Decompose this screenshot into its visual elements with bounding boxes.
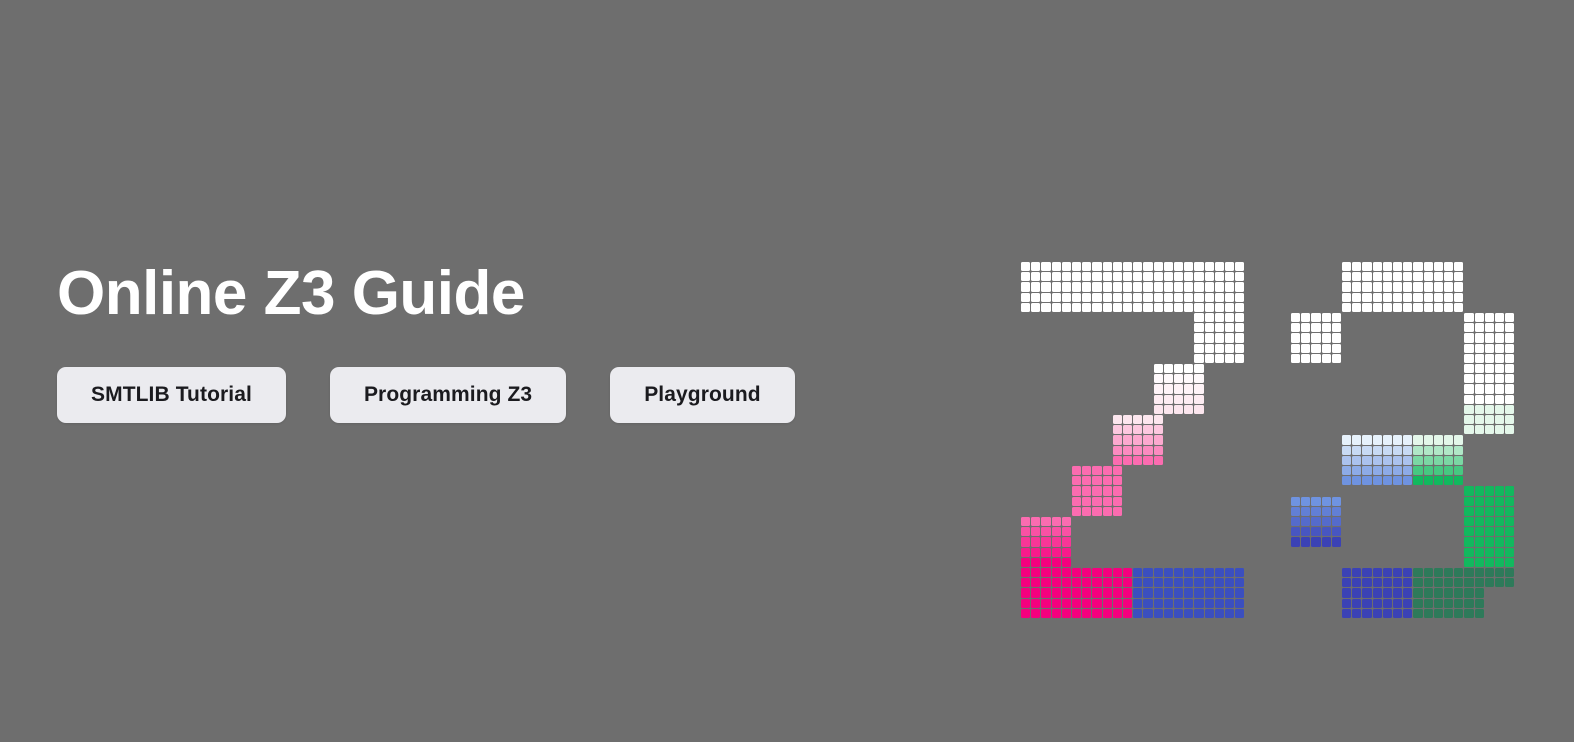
logo-pixel-cell (1444, 466, 1453, 475)
logo-pixel-cell (1154, 364, 1163, 373)
logo-pixel-cell (1475, 558, 1484, 567)
logo-pixel-cell (1123, 262, 1132, 271)
logo-pixel-cell (1505, 548, 1514, 557)
logo-pixel-cell (1373, 568, 1382, 577)
logo-pixel-cell (1362, 476, 1371, 485)
logo-pixel-cell (1403, 262, 1412, 271)
logo-pixel-cell (1301, 507, 1310, 516)
logo-pixel-cell (1174, 303, 1183, 312)
logo-pixel-cell (1342, 476, 1351, 485)
logo-pixel-cell (1072, 588, 1081, 597)
logo-pixel-cell (1103, 466, 1112, 475)
logo-pixel-cell (1062, 272, 1071, 281)
logo-pixel-cell (1301, 354, 1310, 363)
logo-pixel-cell (1444, 262, 1453, 271)
logo-pixel-cell (1505, 313, 1514, 322)
logo-pixel-cell (1475, 507, 1484, 516)
logo-pixel-cell (1332, 497, 1341, 506)
logo-pixel-cell (1464, 517, 1473, 526)
logo-pixel-cell (1225, 313, 1234, 322)
logo-pixel-cell (1495, 323, 1504, 332)
logo-pixel-cell (1031, 517, 1040, 526)
logo-pixel-cell (1464, 609, 1473, 618)
logo-pixel-cell (1485, 517, 1494, 526)
logo-pixel-cell (1174, 282, 1183, 291)
logo-pixel-cell (1184, 395, 1193, 404)
logo-pixel-cell (1352, 456, 1361, 465)
logo-pixel-cell (1403, 578, 1412, 587)
logo-pixel-cell (1424, 609, 1433, 618)
logo-pixel-cell (1434, 262, 1443, 271)
logo-pixel-cell (1311, 497, 1320, 506)
logo-pixel-cell (1485, 354, 1494, 363)
logo-pixel-cell (1123, 282, 1132, 291)
logo-pixel-cell (1235, 588, 1244, 597)
logo-pixel-cell (1424, 435, 1433, 444)
logo-pixel-cell (1052, 578, 1061, 587)
logo-pixel-cell (1052, 272, 1061, 281)
logo-pixel-cell (1485, 333, 1494, 342)
logo-pixel-cell (1133, 282, 1142, 291)
logo-pixel-cell (1235, 272, 1244, 281)
logo-pixel-cell (1215, 354, 1224, 363)
logo-pixel-cell (1291, 527, 1300, 536)
logo-pixel-cell (1174, 578, 1183, 587)
logo-pixel-cell (1434, 272, 1443, 281)
logo-pixel-cell (1041, 548, 1050, 557)
logo-pixel-cell (1495, 527, 1504, 536)
logo-pixel-cell (1362, 282, 1371, 291)
logo-pixel-cell (1031, 293, 1040, 302)
logo-pixel-cell (1505, 527, 1514, 536)
logo-pixel-cell (1225, 609, 1234, 618)
logo-pixel-cell (1062, 517, 1071, 526)
logo-pixel-cell (1485, 374, 1494, 383)
logo-pixel-cell (1352, 578, 1361, 587)
logo-pixel-cell (1194, 313, 1203, 322)
logo-pixel-cell (1205, 578, 1214, 587)
logo-pixel-cell (1041, 578, 1050, 587)
logo-pixel-cell (1164, 609, 1173, 618)
logo-pixel-cell (1235, 344, 1244, 353)
logo-pixel-cell (1311, 517, 1320, 526)
logo-pixel-cell (1062, 609, 1071, 618)
logo-pixel-cell (1342, 293, 1351, 302)
logo-pixel-cell (1123, 272, 1132, 281)
logo-pixel-cell (1225, 272, 1234, 281)
logo-pixel-cell (1434, 599, 1443, 608)
logo-pixel-cell (1194, 405, 1203, 414)
logo-pixel-cell (1322, 333, 1331, 342)
logo-pixel-cell (1434, 435, 1443, 444)
logo-pixel-cell (1352, 303, 1361, 312)
logo-pixel-cell (1342, 578, 1351, 587)
logo-pixel-cell (1383, 466, 1392, 475)
logo-pixel-cell (1194, 578, 1203, 587)
page-root: Online Z3 Guide SMTLIB Tutorial Programm… (0, 0, 1574, 742)
logo-pixel-cell (1205, 609, 1214, 618)
logo-pixel-cell (1174, 588, 1183, 597)
logo-pixel-cell (1052, 282, 1061, 291)
logo-pixel-cell (1322, 537, 1331, 546)
logo-pixel-cell (1092, 466, 1101, 475)
logo-pixel-cell (1113, 507, 1122, 516)
logo-pixel-cell (1464, 344, 1473, 353)
logo-pixel-cell (1393, 599, 1402, 608)
logo-pixel-cell (1383, 272, 1392, 281)
logo-pixel-cell (1373, 609, 1382, 618)
logo-pixel-cell (1444, 568, 1453, 577)
logo-pixel-cell (1041, 558, 1050, 567)
logo-pixel-cell (1311, 507, 1320, 516)
logo-pixel-cell (1475, 313, 1484, 322)
logo-pixel-cell (1291, 354, 1300, 363)
logo-pixel-cell (1052, 558, 1061, 567)
logo-pixel-cell (1413, 578, 1422, 587)
logo-pixel-cell (1475, 578, 1484, 587)
logo-pixel-cell (1495, 425, 1504, 434)
logo-pixel-cell (1383, 446, 1392, 455)
logo-pixel-cell (1103, 293, 1112, 302)
logo-pixel-cell (1444, 578, 1453, 587)
logo-pixel-cell (1072, 497, 1081, 506)
logo-pixel-cell (1464, 313, 1473, 322)
logo-pixel-cell (1092, 588, 1101, 597)
logo-pixel-cell (1082, 262, 1091, 271)
logo-pixel-cell (1403, 568, 1412, 577)
logo-pixel-cell (1184, 262, 1193, 271)
logo-pixel-cell (1311, 323, 1320, 332)
logo-pixel-cell (1403, 293, 1412, 302)
logo-pixel-cell (1464, 405, 1473, 414)
logo-pixel-cell (1424, 446, 1433, 455)
logo-pixel-cell (1143, 262, 1152, 271)
logo-pixel-cell (1383, 599, 1392, 608)
logo-pixel-cell (1103, 507, 1112, 516)
smtlib-tutorial-button[interactable]: SMTLIB Tutorial (57, 367, 286, 423)
logo-pixel-cell (1475, 497, 1484, 506)
logo-pixel-cell (1184, 282, 1193, 291)
logo-pixel-cell (1454, 568, 1463, 577)
logo-pixel-cell (1215, 344, 1224, 353)
hero-button-row: SMTLIB Tutorial Programming Z3 Playgroun… (57, 367, 977, 423)
logo-pixel-cell (1103, 282, 1112, 291)
logo-pixel-cell (1311, 537, 1320, 546)
logo-pixel-cell (1194, 354, 1203, 363)
logo-pixel-cell (1205, 282, 1214, 291)
logo-pixel-cell (1154, 609, 1163, 618)
logo-pixel-cell (1082, 486, 1091, 495)
logo-pixel-cell (1495, 395, 1504, 404)
logo-pixel-cell (1322, 323, 1331, 332)
logo-pixel-cell (1174, 395, 1183, 404)
logo-pixel-cell (1123, 415, 1132, 424)
page-title: Online Z3 Guide (57, 258, 977, 330)
logo-pixel-cell (1164, 568, 1173, 577)
logo-pixel-cell (1164, 364, 1173, 373)
logo-pixel-cell (1133, 303, 1142, 312)
logo-pixel-cell (1352, 282, 1361, 291)
logo-pixel-cell (1072, 272, 1081, 281)
logo-pixel-cell (1413, 588, 1422, 597)
logo-pixel-cell (1495, 344, 1504, 353)
logo-pixel-cell (1301, 313, 1310, 322)
logo-pixel-cell (1103, 568, 1112, 577)
logo-pixel-cell (1342, 303, 1351, 312)
logo-pixel-cell (1342, 272, 1351, 281)
logo-pixel-cell (1133, 446, 1142, 455)
logo-pixel-cell (1352, 588, 1361, 597)
logo-pixel-cell (1403, 303, 1412, 312)
logo-pixel-cell (1393, 282, 1402, 291)
logo-pixel-cell (1123, 425, 1132, 434)
logo-pixel-cell (1485, 415, 1494, 424)
logo-pixel-cell (1164, 282, 1173, 291)
logo-pixel-cell (1444, 272, 1453, 281)
logo-pixel-cell (1393, 568, 1402, 577)
logo-pixel-cell (1495, 354, 1504, 363)
logo-pixel-cell (1031, 609, 1040, 618)
logo-pixel-cell (1485, 537, 1494, 546)
logo-pixel-cell (1393, 578, 1402, 587)
logo-pixel-cell (1123, 303, 1132, 312)
logo-pixel-cell (1184, 364, 1193, 373)
playground-button[interactable]: Playground (610, 367, 795, 423)
logo-pixel-cell (1082, 282, 1091, 291)
logo-pixel-cell (1062, 588, 1071, 597)
logo-pixel-cell (1454, 476, 1463, 485)
logo-pixel-cell (1393, 588, 1402, 597)
logo-pixel-cell (1342, 435, 1351, 444)
logo-pixel-cell (1164, 578, 1173, 587)
logo-pixel-cell (1311, 354, 1320, 363)
logo-pixel-cell (1424, 599, 1433, 608)
logo-pixel-cell (1291, 344, 1300, 353)
logo-pixel-cell (1031, 527, 1040, 536)
logo-pixel-cell (1062, 548, 1071, 557)
logo-pixel-cell (1485, 344, 1494, 353)
logo-pixel-cell (1041, 537, 1050, 546)
logo-pixel-cell (1021, 262, 1030, 271)
logo-pixel-cell (1113, 303, 1122, 312)
logo-pixel-cell (1485, 384, 1494, 393)
logo-pixel-cell (1021, 578, 1030, 587)
logo-pixel-cell (1164, 272, 1173, 281)
logo-pixel-cell (1485, 313, 1494, 322)
logo-pixel-cell (1235, 568, 1244, 577)
logo-pixel-cell (1383, 568, 1392, 577)
logo-pixel-cell (1383, 303, 1392, 312)
logo-pixel-cell (1092, 609, 1101, 618)
logo-pixel-cell (1373, 435, 1382, 444)
logo-pixel-cell (1434, 303, 1443, 312)
logo-pixel-cell (1403, 588, 1412, 597)
logo-pixel-cell (1475, 527, 1484, 536)
logo-pixel-cell (1092, 568, 1101, 577)
logo-pixel-cell (1174, 293, 1183, 302)
logo-pixel-cell (1103, 476, 1112, 485)
logo-pixel-cell (1174, 272, 1183, 281)
logo-pixel-cell (1413, 609, 1422, 618)
logo-pixel-cell (1154, 272, 1163, 281)
logo-pixel-cell (1154, 405, 1163, 414)
logo-pixel-cell (1454, 456, 1463, 465)
logo-pixel-cell (1475, 599, 1484, 608)
logo-pixel-cell (1332, 507, 1341, 516)
logo-pixel-cell (1454, 272, 1463, 281)
logo-pixel-cell (1373, 446, 1382, 455)
logo-pixel-cell (1362, 568, 1371, 577)
logo-pixel-cell (1113, 435, 1122, 444)
logo-pixel-cell (1362, 435, 1371, 444)
logo-pixel-cell (1434, 456, 1443, 465)
logo-pixel-cell (1184, 609, 1193, 618)
logo-pixel-cell (1505, 333, 1514, 342)
logo-pixel-cell (1235, 354, 1244, 363)
programming-z3-button[interactable]: Programming Z3 (330, 367, 566, 423)
logo-pixel-cell (1464, 384, 1473, 393)
logo-pixel-cell (1464, 323, 1473, 332)
logo-pixel-cell (1352, 435, 1361, 444)
logo-pixel-cell (1184, 272, 1193, 281)
logo-pixel-cell (1072, 282, 1081, 291)
logo-pixel-cell (1403, 446, 1412, 455)
logo-pixel-cell (1082, 507, 1091, 516)
logo-pixel-cell (1215, 262, 1224, 271)
logo-pixel-cell (1052, 588, 1061, 597)
logo-pixel-cell (1215, 333, 1224, 342)
logo-pixel-cell (1413, 262, 1422, 271)
logo-pixel-cell (1215, 293, 1224, 302)
logo-pixel-cell (1164, 395, 1173, 404)
logo-pixel-cell (1133, 609, 1142, 618)
logo-pixel-cell (1505, 425, 1514, 434)
logo-pixel-cell (1164, 405, 1173, 414)
logo-pixel-cell (1413, 466, 1422, 475)
logo-pixel-cell (1464, 486, 1473, 495)
logo-pixel-cell (1454, 578, 1463, 587)
logo-pixel-cell (1485, 395, 1494, 404)
logo-pixel-cell (1475, 384, 1484, 393)
logo-pixel-cell (1143, 293, 1152, 302)
logo-pixel-cell (1454, 446, 1463, 455)
logo-pixel-cell (1322, 354, 1331, 363)
logo-pixel-cell (1133, 293, 1142, 302)
logo-pixel-cell (1352, 262, 1361, 271)
logo-pixel-cell (1113, 486, 1122, 495)
logo-pixel-cell (1143, 282, 1152, 291)
logo-pixel-cell (1021, 303, 1030, 312)
logo-pixel-cell (1403, 282, 1412, 291)
logo-pixel-cell (1225, 282, 1234, 291)
logo-pixel-cell (1113, 415, 1122, 424)
logo-pixel-cell (1373, 476, 1382, 485)
logo-pixel-cell (1505, 486, 1514, 495)
logo-pixel-cell (1133, 435, 1142, 444)
logo-pixel-cell (1031, 282, 1040, 291)
logo-pixel-cell (1143, 588, 1152, 597)
logo-pixel-cell (1052, 517, 1061, 526)
logo-pixel-cell (1082, 303, 1091, 312)
logo-pixel-cell (1052, 568, 1061, 577)
logo-pixel-cell (1495, 374, 1504, 383)
logo-pixel-cell (1194, 293, 1203, 302)
logo-pixel-cell (1031, 558, 1040, 567)
logo-pixel-cell (1215, 599, 1224, 608)
logo-pixel-cell (1174, 599, 1183, 608)
logo-pixel-cell (1092, 262, 1101, 271)
logo-pixel-cell (1072, 609, 1081, 618)
logo-pixel-cell (1235, 282, 1244, 291)
z3-pixel-logo (1021, 262, 1521, 587)
logo-pixel-cell (1454, 599, 1463, 608)
logo-pixel-cell (1383, 609, 1392, 618)
logo-pixel-cell (1291, 313, 1300, 322)
logo-pixel-cell (1052, 548, 1061, 557)
logo-pixel-cell (1424, 456, 1433, 465)
logo-pixel-cell (1413, 446, 1422, 455)
logo-pixel-cell (1031, 262, 1040, 271)
logo-pixel-cell (1403, 476, 1412, 485)
logo-pixel-cell (1092, 303, 1101, 312)
logo-pixel-cell (1225, 588, 1234, 597)
logo-pixel-cell (1082, 609, 1091, 618)
logo-pixel-cell (1342, 609, 1351, 618)
logo-pixel-cell (1205, 588, 1214, 597)
logo-pixel-cell (1485, 425, 1494, 434)
logo-pixel-cell (1143, 446, 1152, 455)
logo-pixel-cell (1434, 568, 1443, 577)
logo-pixel-cell (1485, 405, 1494, 414)
logo-pixel-cell (1505, 405, 1514, 414)
logo-pixel-cell (1362, 446, 1371, 455)
logo-pixel-cell (1041, 527, 1050, 536)
logo-pixel-cell (1072, 293, 1081, 302)
logo-pixel-cell (1444, 446, 1453, 455)
logo-pixel-cell (1505, 558, 1514, 567)
logo-pixel-cell (1383, 476, 1392, 485)
logo-pixel-cell (1154, 578, 1163, 587)
logo-pixel-cell (1072, 466, 1081, 475)
logo-pixel-cell (1205, 344, 1214, 353)
logo-pixel-cell (1475, 405, 1484, 414)
logo-pixel-cell (1225, 344, 1234, 353)
logo-pixel-cell (1123, 588, 1132, 597)
logo-pixel-cell (1174, 262, 1183, 271)
logo-pixel-cell (1205, 303, 1214, 312)
logo-pixel-cell (1352, 293, 1361, 302)
logo-pixel-cell (1291, 323, 1300, 332)
logo-pixel-cell (1092, 497, 1101, 506)
logo-pixel-cell (1021, 272, 1030, 281)
logo-pixel-cell (1031, 537, 1040, 546)
logo-pixel-cell (1072, 599, 1081, 608)
logo-pixel-cell (1424, 303, 1433, 312)
logo-pixel-cell (1454, 466, 1463, 475)
logo-pixel-cell (1311, 313, 1320, 322)
logo-pixel-cell (1103, 588, 1112, 597)
logo-pixel-cell (1434, 609, 1443, 618)
logo-pixel-cell (1154, 599, 1163, 608)
logo-pixel-cell (1413, 435, 1422, 444)
logo-pixel-cell (1143, 272, 1152, 281)
logo-pixel-cell (1464, 558, 1473, 567)
logo-pixel-cell (1434, 466, 1443, 475)
logo-pixel-cell (1464, 364, 1473, 373)
logo-pixel-cell (1194, 272, 1203, 281)
logo-pixel-cell (1235, 609, 1244, 618)
logo-pixel-cell (1205, 333, 1214, 342)
